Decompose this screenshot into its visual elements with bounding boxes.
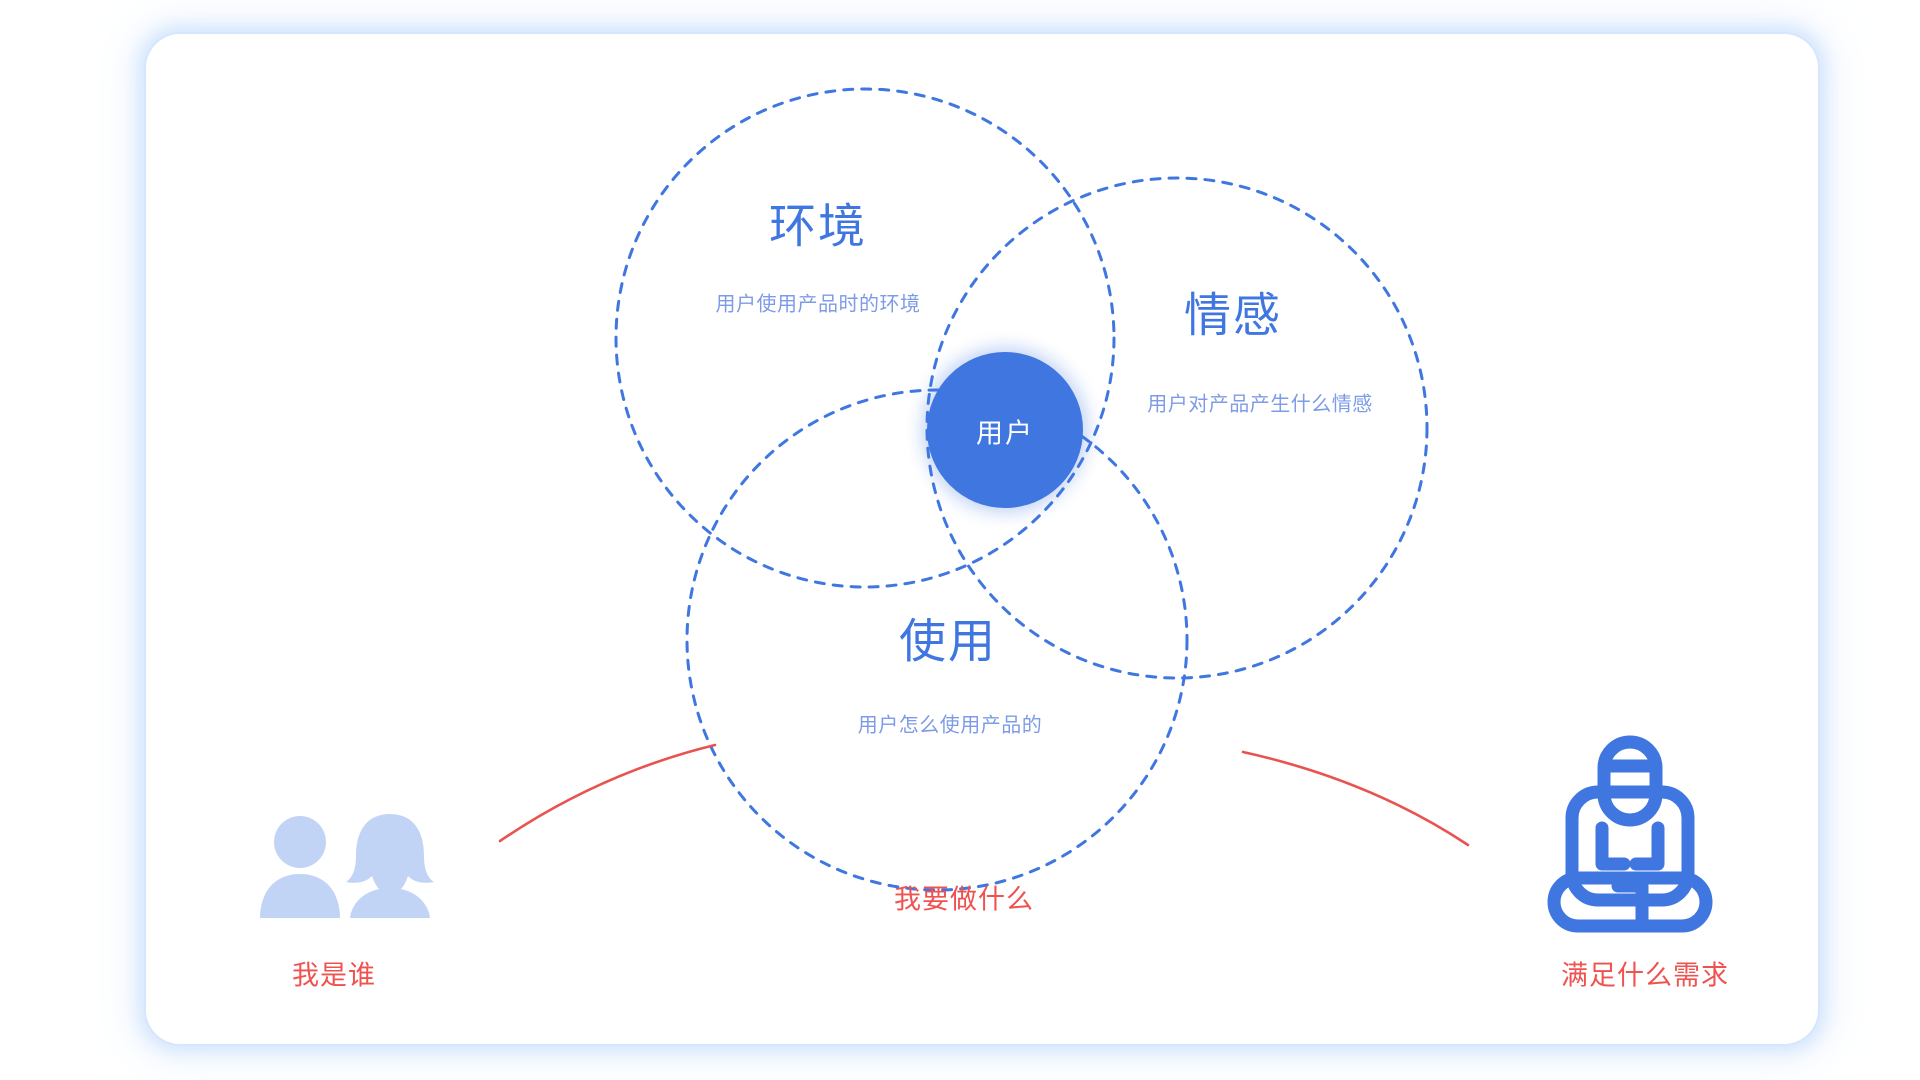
annotation-what-to-do: 我要做什么 xyxy=(894,878,1034,917)
annotation-what-needs: 满足什么需求 xyxy=(1561,954,1729,993)
venn-subtitle-environment: 用户使用产品时的环境 xyxy=(716,288,921,317)
venn-subtitle-usage: 用户怎么使用产品的 xyxy=(858,709,1043,738)
screen-root: 环境 用户使用产品时的环境 情感 用户对产品产生什么情感 使用 用户怎么使用产品… xyxy=(0,0,1920,1080)
venn-subtitle-emotion: 用户对产品产生什么情感 xyxy=(1147,388,1373,417)
venn-title-emotion: 情感 xyxy=(1184,277,1282,346)
annotation-who-am-i: 我是谁 xyxy=(292,954,376,993)
core-circle-label: 用户 xyxy=(976,412,1034,451)
venn-title-usage: 使用 xyxy=(899,603,997,672)
venn-title-environment: 环境 xyxy=(769,188,867,257)
